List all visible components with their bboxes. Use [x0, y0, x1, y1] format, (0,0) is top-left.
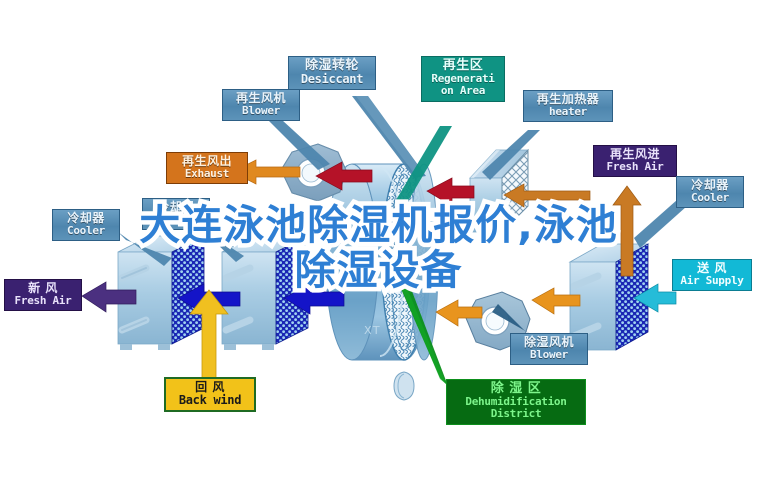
label-regeneration-heater: 再生加热器 heater — [523, 90, 613, 122]
wheel-faint-mark: XT — [364, 324, 381, 337]
label-dehumidification-blower: 除湿风机 Blower — [510, 333, 588, 365]
dehumidifier-flow-diagram: XT 大连泳池除湿机报价,泳池 除湿设备 大连泳池除湿机报价,泳池 除湿设备 除… — [0, 0, 757, 488]
label-regeneration-exhaust: 再生风出 Exhaust — [166, 152, 248, 184]
watermark-line-1: 大连泳池除湿机报价,泳池 — [0, 203, 757, 248]
label-regeneration-blower: 再生风机 Blower — [222, 89, 300, 121]
label-dehumidification-district: 除 湿 区 Dehumidification District — [446, 379, 586, 425]
label-back-wind: 回 风 Back wind — [164, 377, 256, 412]
label-regeneration-inlet: 再生风进 Fresh Air — [593, 145, 677, 177]
label-regeneration-area: 再生区 Regenerati on Area — [421, 56, 505, 102]
label-desiccant-wheel: 除湿转轮 Desiccant — [288, 56, 376, 90]
watermark-line-2: 除湿设备 — [0, 248, 757, 293]
watermark-title: 大连泳池除湿机报价,泳池 除湿设备 — [0, 203, 757, 293]
